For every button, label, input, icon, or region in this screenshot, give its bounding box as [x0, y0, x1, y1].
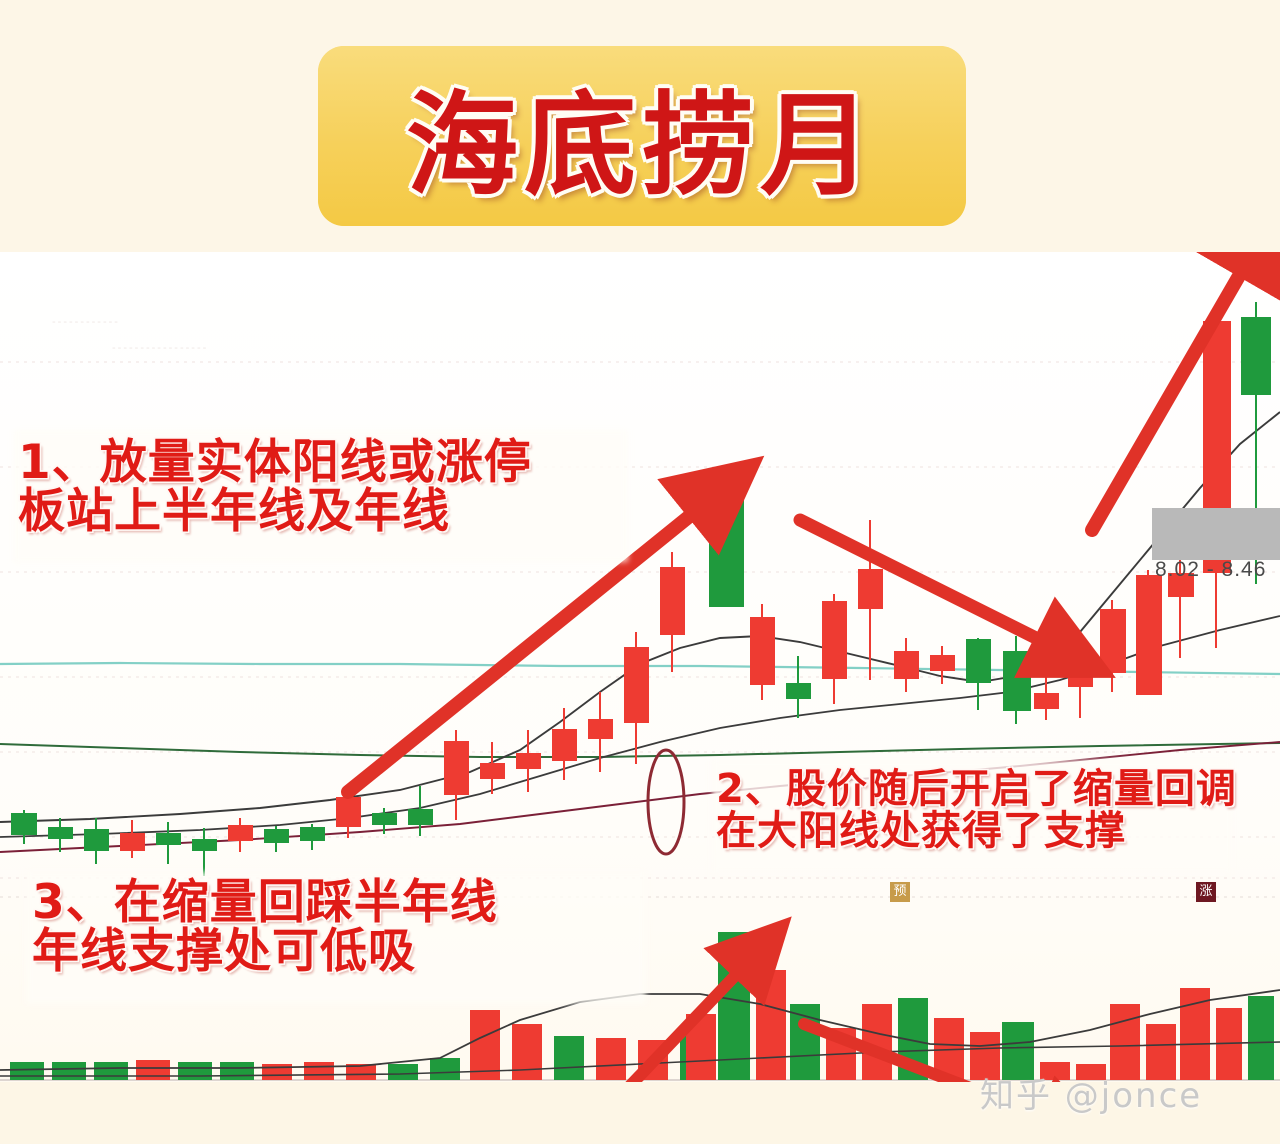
ma-line-year: [0, 743, 1280, 757]
price-range-label: 8.02 - 8.46: [1155, 558, 1266, 582]
marker-limit-up[interactable]: 涨: [1196, 882, 1216, 902]
ghost-text-a: ------------: [52, 316, 120, 328]
price-range-tooltip: [1152, 508, 1280, 560]
page-title: 海底捞月: [318, 46, 966, 226]
annotation-rule-3: 3、在缩量回踩半年线 年线支撑处可低吸: [32, 878, 498, 977]
watermark: 知乎 @jonce: [980, 1068, 1202, 1117]
support-ellipse: [648, 750, 684, 854]
poster-root: 海底捞月: [0, 0, 1280, 1144]
ghost-text-b: -----------------: [112, 342, 208, 354]
annotation-rule-2: 2、股价随后开启了缩量回调 在大阳线处获得了支撑: [716, 768, 1237, 852]
annotation-rule-1: 1、放量实体阳线或涨停 板站上半年线及年线: [18, 438, 532, 537]
marker-forecast[interactable]: 预: [890, 882, 910, 902]
